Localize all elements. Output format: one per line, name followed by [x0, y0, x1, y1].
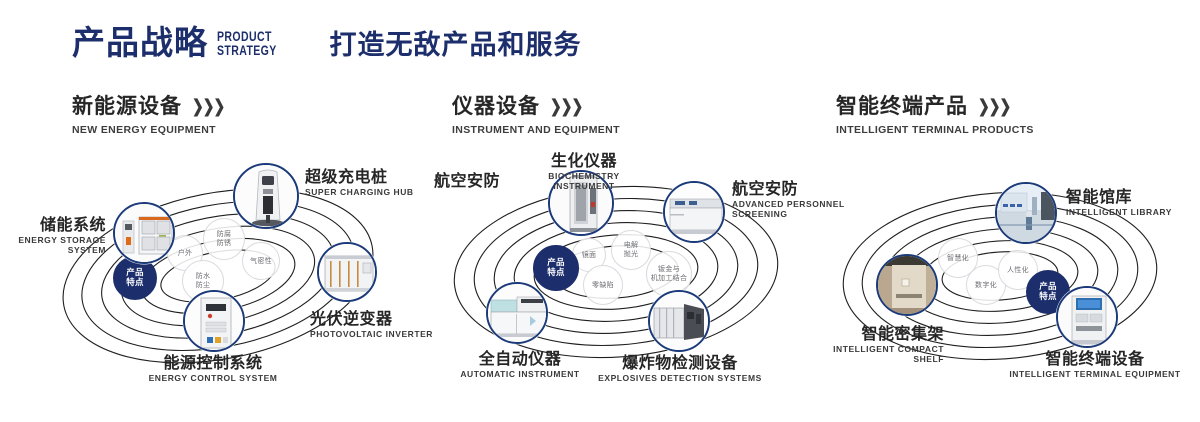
node-compact-shelf[interactable]	[876, 254, 938, 316]
cluster-new-energy: 户外 防腐 防锈 防水 防尘 气密性 产品 特点 储能系统 ENERGY STO…	[40, 150, 400, 406]
node-label-terminal-equipment: 智能终端设备 INTELLIGENT TERMINAL EQUIPMENT	[990, 350, 1200, 380]
compact-shelf-photo	[878, 256, 936, 314]
node-personnel-screening[interactable]	[663, 181, 725, 243]
section-heading-en: INTELLIGENT TERMINAL PRODUCTS	[836, 124, 1034, 136]
intelligent-library-photo	[997, 184, 1055, 242]
feature-bubble: 零缺陷	[583, 265, 623, 305]
section-heading-en: INSTRUMENT AND EQUIPMENT	[452, 124, 620, 136]
node-label-intelligent-library: 智能馆库 INTELLIGENT LIBRARY	[1066, 188, 1196, 218]
node-explosives-detection[interactable]	[648, 290, 710, 352]
cluster-instrument: 镜面 电解 抛光 钣金与 机加工结合 零缺陷 产品 特点 生化仪器 BIOCHE…	[420, 150, 810, 406]
section-heading-cn: 仪器设备	[452, 96, 540, 117]
node-charging-hub[interactable]	[233, 163, 299, 229]
section-heading-intelligent-terminal: 智能终端产品 ❯❯❯ INTELLIGENT TERMINAL PRODUCTS	[836, 96, 1034, 136]
title-en-line-1: PRODUCT	[217, 30, 277, 44]
page-title-english: PRODUCT STRATEGY	[217, 30, 277, 57]
section-heading-instrument: 仪器设备 ❯❯❯ INSTRUMENT AND EQUIPMENT	[452, 96, 620, 136]
energy-storage-photo	[115, 204, 173, 262]
section-heading-cn: 新能源设备	[72, 96, 182, 117]
terminal-equipment-photo	[1058, 288, 1116, 346]
node-label-aviation-security-left: 航空安防	[390, 172, 500, 190]
tagline: 打造无敌产品和服务	[330, 32, 582, 59]
feature-bubble: 电解 抛光	[611, 230, 651, 270]
charging-hub-photo	[235, 165, 297, 227]
chevrons-icon: ❯❯❯	[550, 96, 582, 117]
node-automatic-instrument[interactable]	[486, 282, 548, 344]
page-title: 产品战略	[72, 26, 208, 59]
section-heading-new-energy: 新能源设备 ❯❯❯ NEW ENERGY EQUIPMENT	[72, 96, 224, 136]
pv-inverter-photo	[319, 244, 375, 300]
page-header: 产品战略 PRODUCT STRATEGY 打造无敌产品和服务	[72, 26, 582, 59]
node-pv-inverter[interactable]	[317, 242, 377, 302]
section-heading-cn: 智能终端产品	[836, 96, 968, 117]
node-label-biochemistry-instrument: 生化仪器 BIOCHEMISTRY INSTRUMENT	[504, 152, 664, 192]
node-label-compact-shelf: 智能密集架 INTELLIGENT COMPACT SHELF	[794, 325, 944, 365]
feature-bubble: 气密性	[242, 242, 280, 280]
energy-control-photo	[185, 292, 243, 350]
chevrons-icon: ❯❯❯	[978, 96, 1010, 117]
node-terminal-equipment[interactable]	[1056, 286, 1118, 348]
node-energy-control[interactable]	[183, 290, 245, 352]
cluster-intelligent-terminal: 智慧化 数字化 人性化 产品 特点 智能馆库 INTELLIGENT LIBRA…	[810, 150, 1200, 406]
node-label-energy-storage: 储能系统 ENERGY STORAGE SYSTEM	[4, 216, 106, 256]
title-en-line-2: STRATEGY	[217, 44, 277, 58]
chevrons-icon: ❯❯❯	[192, 96, 224, 117]
automatic-instrument-photo	[488, 284, 546, 342]
explosives-detection-photo	[650, 292, 708, 350]
node-intelligent-library[interactable]	[995, 182, 1057, 244]
node-label-energy-control: 能源控制系统 ENERGY CONTROL SYSTEM	[88, 354, 338, 384]
node-label-automatic-instrument: 全自动仪器 AUTOMATIC INSTRUMENT	[430, 350, 610, 380]
personnel-screening-photo	[665, 183, 723, 241]
section-heading-en: NEW ENERGY EQUIPMENT	[72, 124, 224, 136]
node-energy-storage[interactable]	[113, 202, 175, 264]
